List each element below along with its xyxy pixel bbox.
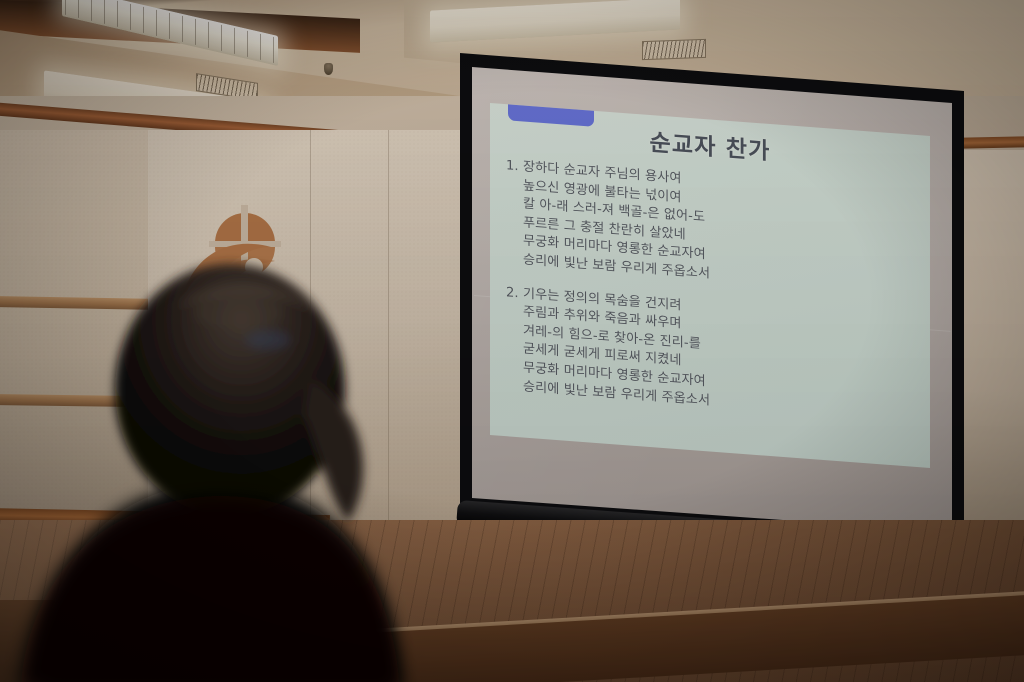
presentation-room-scene: 순교자 찬가 1. 장하다 순교자 주님의 용사여 높으신 영광에 불타는 넋이… [0, 0, 1024, 682]
slide-verses: 1. 장하다 순교자 주님의 용사여 높으신 영광에 불타는 넋이여 칼 아-래… [506, 157, 920, 441]
projection-screen-assembly: 순교자 찬가 1. 장하다 순교자 주님의 용사여 높으신 영광에 불타는 넋이… [452, 45, 972, 565]
viewer-silhouette [0, 230, 450, 682]
verse-1: 1. 장하다 순교자 주님의 용사여 높으신 영광에 불타는 넋이여 칼 아-래… [506, 157, 920, 300]
sprinkler-head-icon [324, 63, 333, 75]
verse-2: 2. 기우는 정의의 목숨을 건지려 주림과 추위와 죽음과 싸우며 겨레-의 … [506, 284, 920, 427]
projected-slide: 순교자 찬가 1. 장하다 순교자 주님의 용사여 높으신 영광에 불타는 넋이… [490, 103, 930, 468]
